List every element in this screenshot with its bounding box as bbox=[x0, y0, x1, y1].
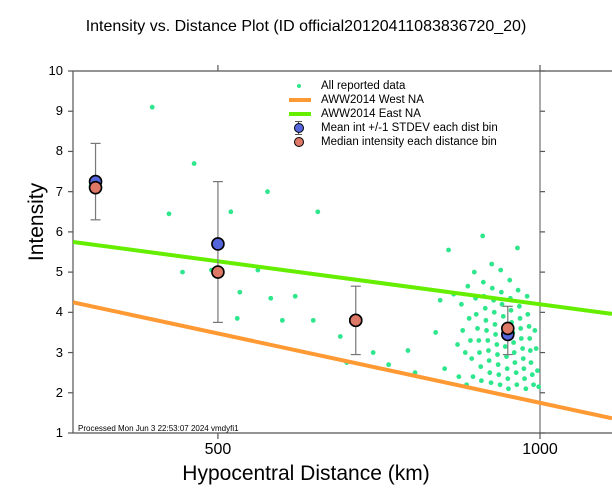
data-point bbox=[483, 318, 488, 323]
y-tick-label: 1 bbox=[35, 425, 63, 440]
data-point bbox=[442, 366, 447, 371]
data-point bbox=[493, 322, 498, 327]
data-point bbox=[512, 360, 517, 365]
x-tick-label: 1000 bbox=[510, 441, 570, 459]
mean-marker-icon bbox=[294, 123, 304, 133]
data-point bbox=[471, 374, 476, 379]
data-point bbox=[438, 298, 443, 303]
data-point bbox=[476, 338, 481, 343]
data-point bbox=[515, 246, 520, 251]
data-point bbox=[490, 286, 495, 291]
data-point bbox=[527, 336, 532, 341]
data-point bbox=[522, 376, 527, 381]
chart-legend: All reported dataAWW2014 West NAAWW2014 … bbox=[283, 79, 515, 149]
data-point bbox=[498, 268, 503, 273]
y-tick-label: 8 bbox=[35, 143, 63, 158]
data-point bbox=[150, 105, 155, 110]
data-point bbox=[499, 290, 504, 295]
data-point bbox=[489, 262, 494, 267]
data-point bbox=[489, 380, 494, 385]
data-point bbox=[514, 370, 519, 375]
data-point bbox=[293, 294, 298, 299]
data-point bbox=[280, 318, 285, 323]
scatter-dot-icon bbox=[297, 84, 301, 88]
data-point bbox=[180, 270, 185, 275]
data-point bbox=[167, 211, 172, 216]
median-marker bbox=[350, 314, 362, 326]
data-point bbox=[265, 189, 270, 194]
x-tick-label: 500 bbox=[188, 441, 248, 459]
data-point bbox=[483, 306, 488, 311]
y-tick-label: 10 bbox=[35, 63, 63, 78]
legend-label: AWW2014 East NA bbox=[321, 107, 421, 121]
intensity-distance-chart: Intensity vs. Distance Plot (ID official… bbox=[0, 0, 612, 504]
data-point bbox=[523, 386, 528, 391]
data-point bbox=[519, 336, 524, 341]
data-point bbox=[478, 364, 483, 369]
data-point bbox=[455, 342, 460, 347]
data-point bbox=[521, 356, 526, 361]
data-point bbox=[481, 280, 486, 285]
data-point bbox=[498, 382, 503, 387]
data-point bbox=[460, 328, 465, 333]
data-point bbox=[446, 248, 451, 253]
legend-label: All reported data bbox=[321, 79, 405, 93]
legend-label: Median intensity each distance bin bbox=[321, 135, 497, 149]
y-tick-label: 5 bbox=[35, 264, 63, 279]
data-point bbox=[503, 344, 508, 349]
data-point bbox=[506, 386, 511, 391]
legend-dot-icon bbox=[283, 79, 319, 93]
legend-item[interactable]: Mean int +/-1 STDEV each dist bin bbox=[283, 121, 515, 135]
data-point bbox=[501, 314, 506, 319]
data-point bbox=[492, 310, 497, 315]
legend-item[interactable]: AWW2014 West NA bbox=[283, 93, 515, 107]
data-point bbox=[505, 376, 510, 381]
legend-label: Mean int +/-1 STDEV each dist bin bbox=[321, 121, 498, 135]
legend-errorbar-icon bbox=[283, 121, 319, 135]
median-marker bbox=[212, 266, 224, 278]
y-tick-label: 3 bbox=[35, 345, 63, 360]
data-point bbox=[509, 308, 514, 313]
data-point bbox=[237, 290, 242, 295]
data-point bbox=[536, 384, 541, 389]
median-marker bbox=[502, 322, 514, 334]
data-point bbox=[463, 350, 468, 355]
data-point bbox=[406, 348, 411, 353]
y-tick-label: 9 bbox=[35, 103, 63, 118]
data-point bbox=[311, 318, 316, 323]
legend-item[interactable]: All reported data bbox=[283, 79, 515, 93]
data-point bbox=[456, 374, 461, 379]
legend-line-icon bbox=[283, 107, 319, 121]
data-point bbox=[493, 332, 498, 337]
data-point bbox=[475, 326, 480, 331]
median-marker bbox=[90, 182, 102, 194]
data-point bbox=[527, 324, 532, 329]
data-point bbox=[268, 296, 273, 301]
data-point bbox=[371, 350, 376, 355]
data-point bbox=[521, 366, 526, 371]
data-point bbox=[516, 288, 521, 293]
data-point bbox=[474, 312, 479, 317]
data-point bbox=[486, 348, 491, 353]
data-point bbox=[531, 382, 536, 387]
trend-line-icon bbox=[289, 98, 311, 102]
data-point bbox=[228, 209, 233, 214]
data-point bbox=[534, 346, 539, 351]
data-point bbox=[494, 342, 499, 347]
trend-line bbox=[73, 242, 612, 314]
data-point bbox=[529, 360, 534, 365]
data-point bbox=[468, 338, 473, 343]
data-point bbox=[514, 382, 519, 387]
data-point bbox=[479, 378, 484, 383]
data-point bbox=[495, 352, 500, 357]
data-point bbox=[472, 270, 477, 275]
data-point bbox=[469, 356, 474, 361]
data-point bbox=[480, 234, 485, 239]
data-point bbox=[520, 346, 525, 351]
data-point bbox=[517, 304, 522, 309]
legend-circle-icon bbox=[283, 135, 319, 149]
data-point bbox=[484, 328, 489, 333]
median-marker-icon bbox=[294, 137, 304, 147]
data-point bbox=[507, 278, 512, 283]
data-point bbox=[496, 362, 501, 367]
data-point bbox=[487, 358, 492, 363]
data-point bbox=[338, 334, 343, 339]
data-point bbox=[518, 316, 523, 321]
legend-line-icon bbox=[283, 93, 319, 107]
errorbar-cap-icon bbox=[295, 121, 302, 122]
y-tick-label: 2 bbox=[35, 385, 63, 400]
data-point bbox=[315, 209, 320, 214]
data-point bbox=[518, 326, 523, 331]
data-point bbox=[459, 302, 464, 307]
legend-label: AWW2014 West NA bbox=[321, 93, 424, 107]
legend-item[interactable]: Median intensity each distance bin bbox=[283, 135, 515, 149]
data-point bbox=[511, 340, 516, 345]
data-point bbox=[525, 294, 530, 299]
processing-stamp: Processed Mon Jun 3 22:53:07 2024 vmdyfi… bbox=[78, 424, 239, 433]
data-point bbox=[433, 330, 438, 335]
data-point bbox=[530, 372, 535, 377]
y-tick-label: 4 bbox=[35, 304, 63, 319]
y-tick-label: 7 bbox=[35, 184, 63, 199]
data-point bbox=[235, 316, 240, 321]
trend-line-icon bbox=[289, 112, 311, 116]
data-point bbox=[487, 370, 492, 375]
data-point bbox=[525, 312, 530, 317]
data-point bbox=[528, 348, 533, 353]
data-point bbox=[386, 362, 391, 367]
data-point bbox=[485, 338, 490, 343]
data-point bbox=[532, 328, 537, 333]
legend-item[interactable]: AWW2014 East NA bbox=[283, 107, 515, 121]
data-point bbox=[496, 372, 501, 377]
data-point bbox=[467, 316, 472, 321]
mean-marker bbox=[212, 238, 224, 250]
data-layer bbox=[73, 105, 612, 419]
data-point bbox=[535, 368, 540, 373]
data-point bbox=[465, 284, 470, 289]
data-point bbox=[192, 161, 197, 166]
y-tick-label: 6 bbox=[35, 224, 63, 239]
data-point bbox=[505, 366, 510, 371]
data-point bbox=[477, 350, 482, 355]
